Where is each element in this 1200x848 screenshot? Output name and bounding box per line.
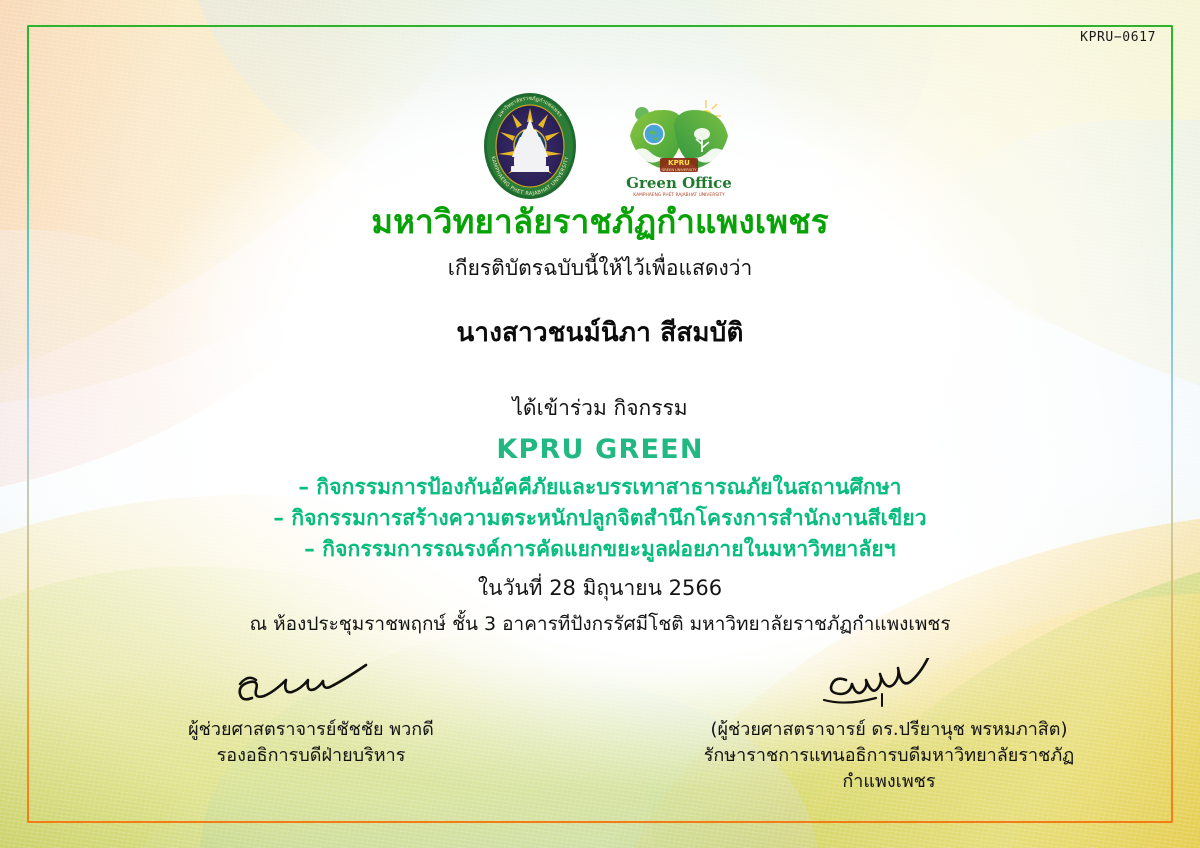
signature-mark-left: [96, 655, 526, 717]
svg-text:KAMPHAENG PHET RAJABHAT UNIVER: KAMPHAENG PHET RAJABHAT UNIVERSITY: [633, 192, 725, 198]
signer-role: รองอธิการบดีฝ่ายบริหาร: [96, 743, 526, 769]
svg-text:GREEN UNIVERSITY: GREEN UNIVERSITY: [662, 168, 698, 172]
certificate-content: KPRU−0617: [0, 0, 1200, 848]
signature-block-right: (ผู้ช่วยศาสตราจารย์ ดร.ปรียานุช พรหมภาสิ…: [674, 655, 1104, 795]
recipient-name: นางสาวชนม์นิภา สีสมบัติ: [0, 312, 1200, 353]
participation-label: ได้เข้าร่วม กิจกรรม: [0, 392, 1200, 425]
university-seal-icon: มหาวิทยาลัยราชภัฏกำแพงเพชร KAMPHAENG PHE…: [482, 92, 578, 200]
signature-block-left: ผู้ช่วยศาสตราจารย์ชัชชัย พวกดี รองอธิการ…: [96, 655, 526, 795]
signature-row: ผู้ช่วยศาสตราจารย์ชัชชัย พวกดี รองอธิการ…: [0, 655, 1200, 795]
certificate-id: KPRU−0617: [1080, 30, 1156, 45]
signer-role: รักษาราชการแทนอธิการบดีมหาวิทยาลัยราชภัฏ…: [674, 743, 1104, 795]
signature-mark-right: [674, 655, 1104, 717]
event-date: ในวันที่ 28 มิถุนายน 2566: [0, 572, 1200, 605]
svg-text:KPRU: KPRU: [668, 159, 690, 167]
logo-row: มหาวิทยาลัยราชภัฏกำแพงเพชร KAMPHAENG PHE…: [0, 92, 1200, 200]
activity-item: – กิจกรรมการสร้างความตระหนักปลูกจิตสำนึก…: [0, 503, 1200, 534]
program-name: KPRU GREEN: [0, 434, 1200, 465]
certificate-subtitle: เกียรติบัตรฉบับนี้ให้ไว้เพื่อแสดงว่า: [0, 255, 1200, 282]
event-venue: ณ ห้องประชุมราชพฤกษ์ ชั้น 3 อาคารทีปังกร…: [0, 609, 1200, 639]
activity-item: – กิจกรรมการรณรงค์การคัดแยกขยะมูลฝอยภายใ…: [0, 534, 1200, 565]
svg-text:Green Office: Green Office: [626, 174, 732, 192]
activity-list: – กิจกรรมการป้องกันอัคคีภัยและบรรเทาสาธา…: [0, 472, 1200, 565]
activity-item: – กิจกรรมการป้องกันอัคคีภัยและบรรเทาสาธา…: [0, 472, 1200, 503]
signer-name: (ผู้ช่วยศาสตราจารย์ ดร.ปรียานุช พรหมภาสิ…: [674, 717, 1104, 743]
signer-name: ผู้ช่วยศาสตราจารย์ชัชชัย พวกดี: [96, 717, 526, 743]
green-office-logo-icon: KPRU GREEN UNIVERSITY Green Office KAMPH…: [622, 92, 718, 200]
certificate-page: KPRU−0617: [0, 0, 1200, 848]
